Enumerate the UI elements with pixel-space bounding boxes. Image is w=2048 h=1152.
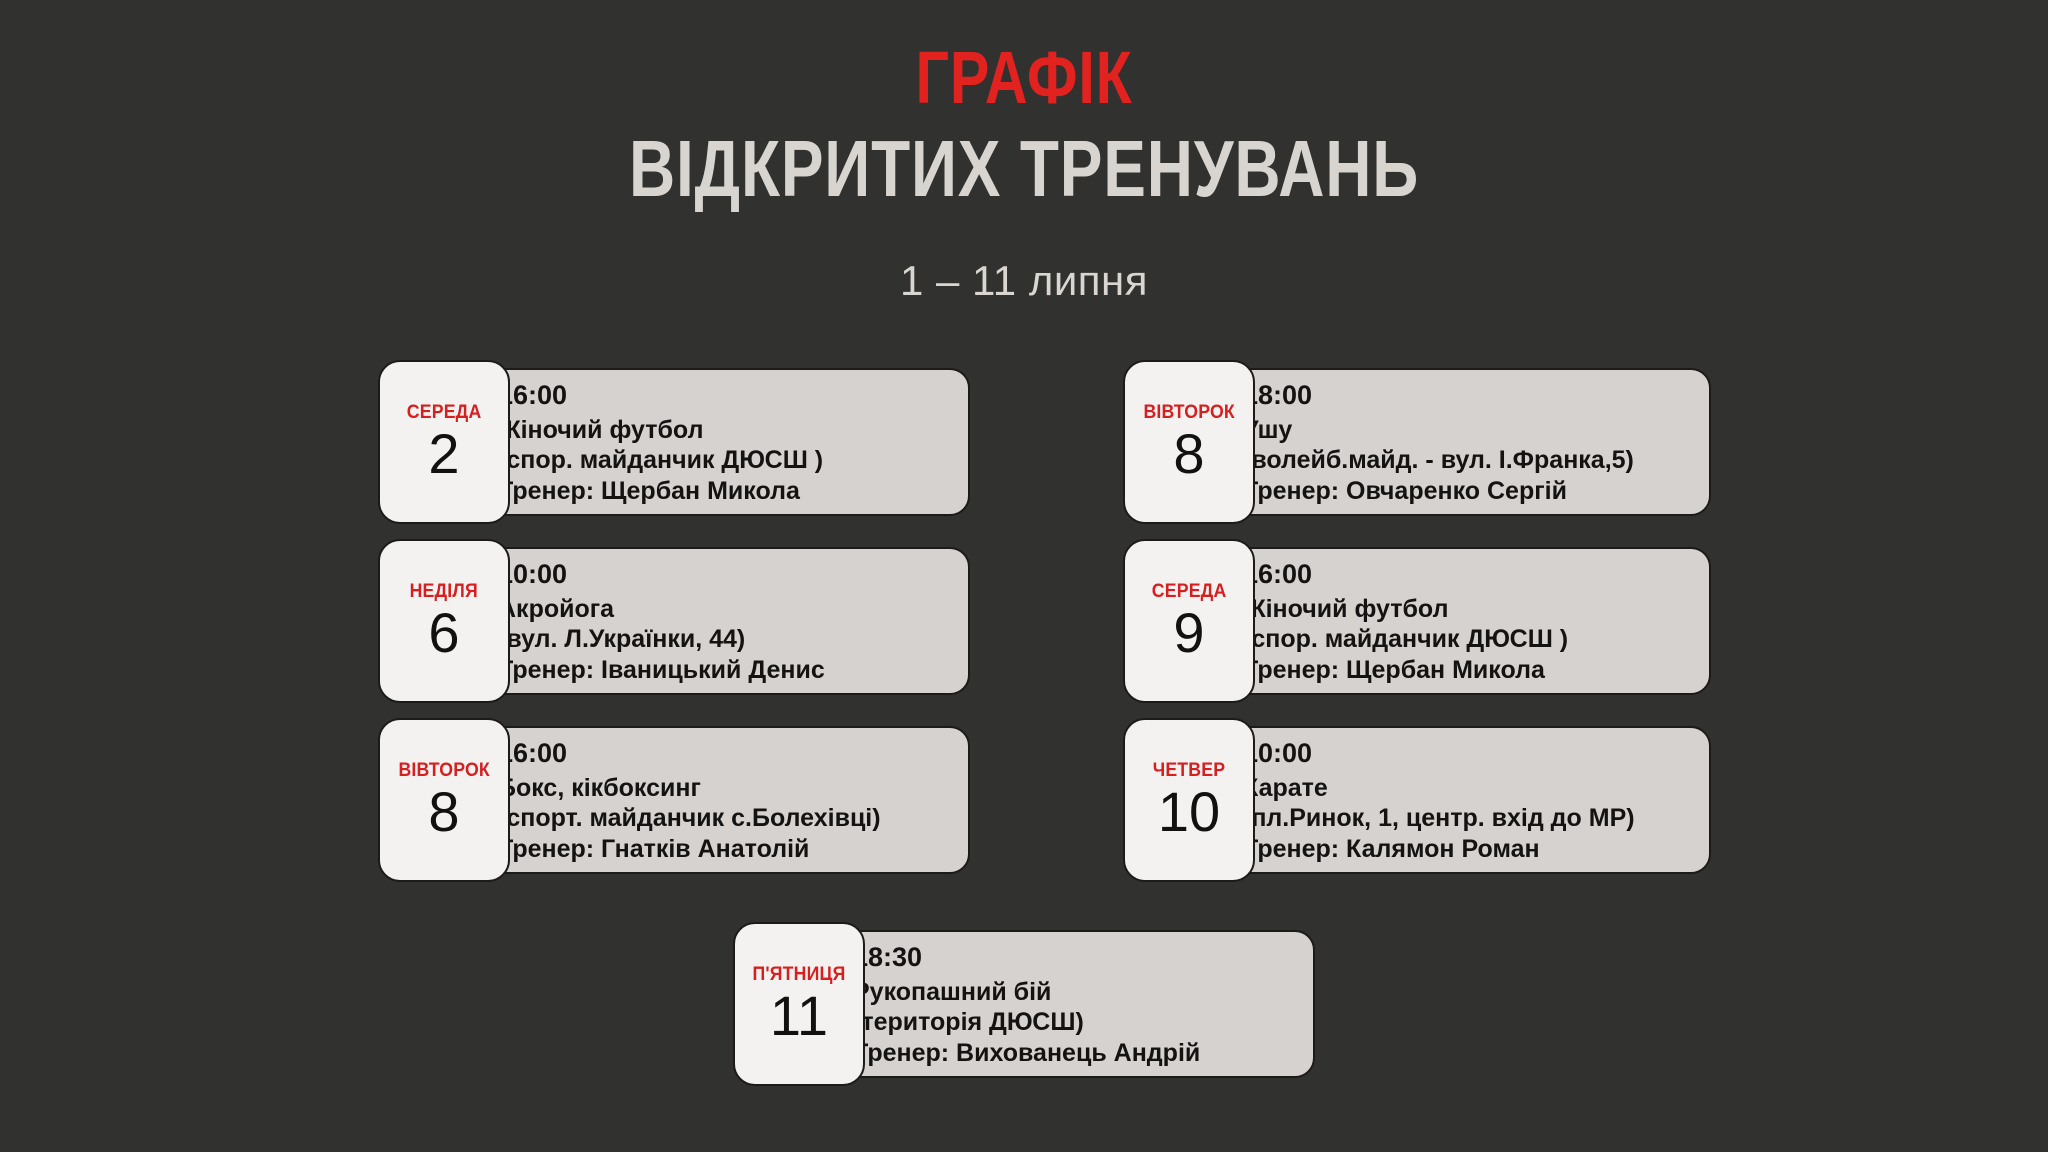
poster-title-primary: ГРАФІК bbox=[205, 42, 1843, 115]
schedule-column-right: ЧЕТВЕР 10 10:00 Карате (пл.Ринок, 1, цен… bbox=[1123, 726, 1868, 874]
session-activity: Акройога bbox=[498, 594, 946, 625]
session-time: 16:00 bbox=[498, 738, 946, 770]
poster-title-secondary: ВІДКРИТИХ ТРЕНУВАНЬ bbox=[205, 129, 1843, 209]
schedule-poster: ГРАФІК ВІДКРИТИХ ТРЕНУВАНЬ 1 – 11 липня … bbox=[0, 0, 2048, 1152]
day-number-label: 8 bbox=[428, 784, 459, 840]
day-name-label: ЧЕТВЕР bbox=[1153, 760, 1225, 782]
schedule-column-left: ВІВТОРОК 8 16:00 Бокс, кікбоксинг (спорт… bbox=[378, 726, 1123, 874]
day-number-label: 10 bbox=[1158, 784, 1220, 840]
session-activity: Жіночий футбол bbox=[498, 415, 946, 446]
day-number-label: 6 bbox=[428, 605, 459, 661]
day-name-label: СЕРЕДА bbox=[407, 402, 482, 424]
day-number-label: 8 bbox=[1173, 426, 1204, 482]
day-badge: ЧЕТВЕР 10 bbox=[1123, 718, 1255, 882]
schedule-column-left: НЕДІЛЯ 6 10:00 Акройога (вул. Л.Українки… bbox=[378, 547, 1123, 695]
session-coach: Тренер: Щербан Микола bbox=[498, 476, 946, 507]
session-location: (територія ДЮСШ) bbox=[853, 1007, 1291, 1038]
poster-header: ГРАФІК ВІДКРИТИХ ТРЕНУВАНЬ 1 – 11 липня bbox=[0, 0, 2048, 305]
poster-date-range: 1 – 11 липня bbox=[0, 257, 2048, 305]
day-badge: ВІВТОРОК 8 bbox=[378, 718, 510, 882]
day-badge: НЕДІЛЯ 6 bbox=[378, 539, 510, 703]
session-location: (вул. Л.Українки, 44) bbox=[498, 624, 946, 655]
session-coach: Тренер: Овчаренко Сергій bbox=[1243, 476, 1687, 507]
schedule-card[interactable]: НЕДІЛЯ 6 10:00 Акройога (вул. Л.Українки… bbox=[378, 547, 970, 695]
schedule-row: П'ЯТНИЦЯ 11 18:30 Рукопашний бій (терито… bbox=[0, 930, 2048, 1078]
day-name-label: СЕРЕДА bbox=[1152, 581, 1227, 603]
session-coach: Тренер: Іваницький Денис bbox=[498, 655, 946, 686]
schedule-column-right: СЕРЕДА 9 16:00 Жіночий футбол (спор. май… bbox=[1123, 547, 1868, 695]
day-number-label: 11 bbox=[770, 988, 828, 1044]
day-name-label: НЕДІЛЯ bbox=[410, 581, 478, 603]
session-time: 18:30 bbox=[853, 942, 1291, 974]
day-name-label: ВІВТОРОК bbox=[1143, 402, 1234, 424]
schedule-column-right: ВІВТОРОК 8 18:00 Ушу (волейб.майд. - вул… bbox=[1123, 368, 1868, 516]
session-time: 10:00 bbox=[498, 559, 946, 591]
session-activity: Рукопашний бій bbox=[853, 977, 1291, 1008]
session-location: (спор. майданчик ДЮСШ ) bbox=[1243, 624, 1687, 655]
schedule-card[interactable]: СЕРЕДА 9 16:00 Жіночий футбол (спор. май… bbox=[1123, 547, 1711, 695]
session-activity: Бокс, кікбоксинг bbox=[498, 773, 946, 804]
session-activity: Карате bbox=[1243, 773, 1687, 804]
day-number-label: 9 bbox=[1173, 605, 1204, 661]
schedule-row: НЕДІЛЯ 6 10:00 Акройога (вул. Л.Українки… bbox=[0, 547, 2048, 695]
schedule-card[interactable]: ЧЕТВЕР 10 10:00 Карате (пл.Ринок, 1, цен… bbox=[1123, 726, 1711, 874]
session-coach: Тренер: Щербан Микола bbox=[1243, 655, 1687, 686]
session-time: 10:00 bbox=[1243, 738, 1687, 770]
day-badge: СЕРЕДА 2 bbox=[378, 360, 510, 524]
schedule-card[interactable]: ВІВТОРОК 8 16:00 Бокс, кікбоксинг (спорт… bbox=[378, 726, 970, 874]
schedule-row: СЕРЕДА 2 16:00 Жіночий футбол (спор. май… bbox=[0, 368, 2048, 516]
schedule-card[interactable]: СЕРЕДА 2 16:00 Жіночий футбол (спор. май… bbox=[378, 368, 970, 516]
day-name-label: П'ЯТНИЦЯ bbox=[753, 964, 846, 986]
session-time: 18:00 bbox=[1243, 380, 1687, 412]
session-location: (пл.Ринок, 1, центр. вхід до МР) bbox=[1243, 803, 1687, 834]
session-location: (спор. майданчик ДЮСШ ) bbox=[498, 445, 946, 476]
day-badge: ВІВТОРОК 8 bbox=[1123, 360, 1255, 524]
day-number-label: 2 bbox=[428, 426, 459, 482]
session-coach: Тренер: Гнатків Анатолій bbox=[498, 834, 946, 865]
schedule-card[interactable]: ВІВТОРОК 8 18:00 Ушу (волейб.майд. - вул… bbox=[1123, 368, 1711, 516]
schedule-row: ВІВТОРОК 8 16:00 Бокс, кікбоксинг (спорт… bbox=[0, 726, 2048, 874]
session-activity: Жіночий футбол bbox=[1243, 594, 1687, 625]
day-badge: П'ЯТНИЦЯ 11 bbox=[733, 922, 865, 1086]
session-coach: Тренер: Вихованець Андрій bbox=[853, 1038, 1291, 1069]
schedule-column-left: СЕРЕДА 2 16:00 Жіночий футбол (спор. май… bbox=[378, 368, 1123, 516]
day-badge: СЕРЕДА 9 bbox=[1123, 539, 1255, 703]
session-location: (волейб.майд. - вул. І.Франка,5) bbox=[1243, 445, 1687, 476]
session-time: 16:00 bbox=[1243, 559, 1687, 591]
session-location: (спорт. майданчик с.Болехівці) bbox=[498, 803, 946, 834]
schedule-card-grid: СЕРЕДА 2 16:00 Жіночий футбол (спор. май… bbox=[0, 368, 2048, 1078]
session-activity: Ушу bbox=[1243, 415, 1687, 446]
session-coach: Тренер: Калямон Роман bbox=[1243, 834, 1687, 865]
session-time: 16:00 bbox=[498, 380, 946, 412]
day-name-label: ВІВТОРОК bbox=[398, 760, 489, 782]
schedule-card[interactable]: П'ЯТНИЦЯ 11 18:30 Рукопашний бій (терито… bbox=[733, 930, 1315, 1078]
